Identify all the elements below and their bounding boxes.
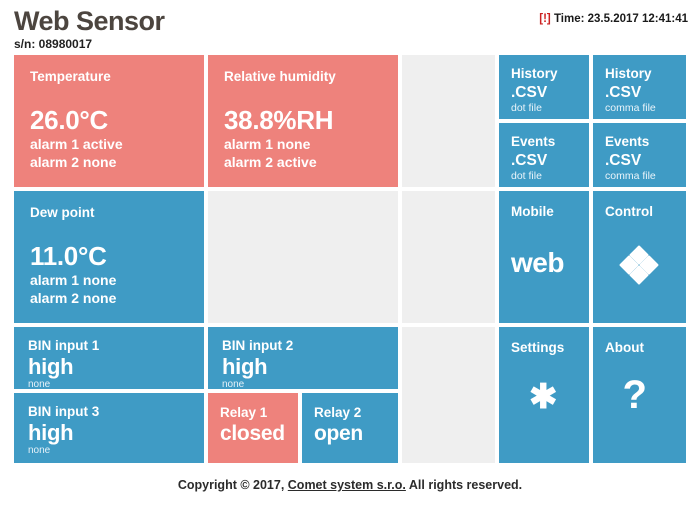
about-title: About [605,339,686,356]
page-header: Web Sensor s/n: 08980017 [!] Time: 23.5.… [0,0,700,52]
bin-input-3-note: none [28,445,204,457]
bin-input-1-value: high [28,354,204,379]
events-comma-ext: .CSV [605,151,686,170]
events-dot-title: Events [511,133,589,150]
bin-input-3-value: high [28,420,204,445]
relay-2-title: Relay 2 [314,404,398,421]
humidity-value: 38.8%RH [224,105,398,135]
company-link[interactable]: Comet system s.r.o. [288,478,406,492]
tile-relay-2[interactable]: Relay 2 open [302,393,398,463]
history-dot-ext: .CSV [511,83,589,102]
tile-history-csv-comma[interactable]: History .CSV comma file [593,55,686,119]
temperature-alarm-1: alarm 1 active [30,135,204,153]
events-dot-ext: .CSV [511,151,589,170]
humidity-alarm-1: alarm 1 none [224,135,398,153]
humidity-title: Relative humidity [224,69,398,85]
bin-input-3-title: BIN input 3 [28,404,204,420]
events-comma-note: comma file [605,170,686,183]
copyright-suffix: All rights reserved. [406,478,522,492]
bin-input-1-note: none [28,379,204,389]
time-label: Time: 23.5.2017 12:41:41 [554,13,688,25]
tile-events-csv-dot[interactable]: Events .CSV dot file [499,123,589,187]
tile-events-csv-comma[interactable]: Events .CSV comma file [593,123,686,187]
history-comma-title: History [605,65,686,82]
tile-mobile-web[interactable]: Mobile web [499,191,589,323]
mobile-title: Mobile [511,203,589,220]
dew-point-alarm-1: alarm 1 none [30,271,204,289]
tile-placeholder-row2b [402,191,495,323]
serial-number: s/n: 08980017 [14,37,688,51]
question-mark-icon: ? [605,378,686,412]
control-title: Control [605,203,686,220]
relay-1-title: Relay 1 [220,404,298,421]
history-dot-note: dot file [511,102,589,115]
dew-point-alarm-2: alarm 2 none [30,289,204,307]
history-comma-note: comma file [605,102,686,115]
tile-bin-input-2[interactable]: BIN input 2 high none [208,327,398,389]
tile-placeholder-row1 [402,55,495,187]
tile-relative-humidity[interactable]: Relative humidity 38.8%RH alarm 1 none a… [208,55,398,187]
temperature-value: 26.0°C [30,105,204,135]
dew-point-value: 11.0°C [30,241,204,271]
bin-input-2-note: none [222,379,398,389]
history-comma-ext: .CSV [605,83,686,102]
tile-settings[interactable]: Settings ✱ [499,327,589,463]
page-footer: Copyright © 2017, Comet system s.r.o. Al… [0,478,700,492]
tile-placeholder-row3 [402,327,495,463]
events-comma-title: Events [605,133,686,150]
copyright-prefix: Copyright © 2017, [178,478,288,492]
tile-bin-input-3[interactable]: BIN input 3 high none [14,393,204,463]
events-dot-note: dot file [511,170,589,183]
bin-input-2-value: high [222,354,398,379]
alert-icon: [!] [539,13,551,25]
history-dot-title: History [511,65,589,82]
relay-2-value: open [314,421,398,446]
bin-input-1-title: BIN input 1 [28,338,204,354]
tile-bin-input-1[interactable]: BIN input 1 high none [14,327,204,389]
tile-placeholder-row2a [208,191,398,323]
device-time: [!] Time: 23.5.2017 12:41:41 [539,13,688,25]
tile-history-csv-dot[interactable]: History .CSV dot file [499,55,589,119]
temperature-title: Temperature [30,69,204,85]
tile-control[interactable]: Control [593,191,686,323]
temperature-alarm-2: alarm 2 none [30,153,204,171]
web-text-icon: web [511,246,589,280]
tile-grid: Temperature 26.0°C alarm 1 active alarm … [14,55,686,463]
humidity-alarm-2: alarm 2 active [224,153,398,171]
tile-temperature[interactable]: Temperature 26.0°C alarm 1 active alarm … [14,55,204,187]
asterisk-icon: ✱ [511,380,589,414]
settings-title: Settings [511,339,589,356]
tile-dew-point[interactable]: Dew point 11.0°C alarm 1 none alarm 2 no… [14,191,204,323]
tile-relay-1[interactable]: Relay 1 closed [208,393,298,463]
diamond-cluster-icon [621,248,657,284]
tile-about[interactable]: About ? [593,327,686,463]
relay-1-value: closed [220,421,298,446]
bin-input-2-title: BIN input 2 [222,338,398,354]
dew-point-title: Dew point [30,205,204,221]
